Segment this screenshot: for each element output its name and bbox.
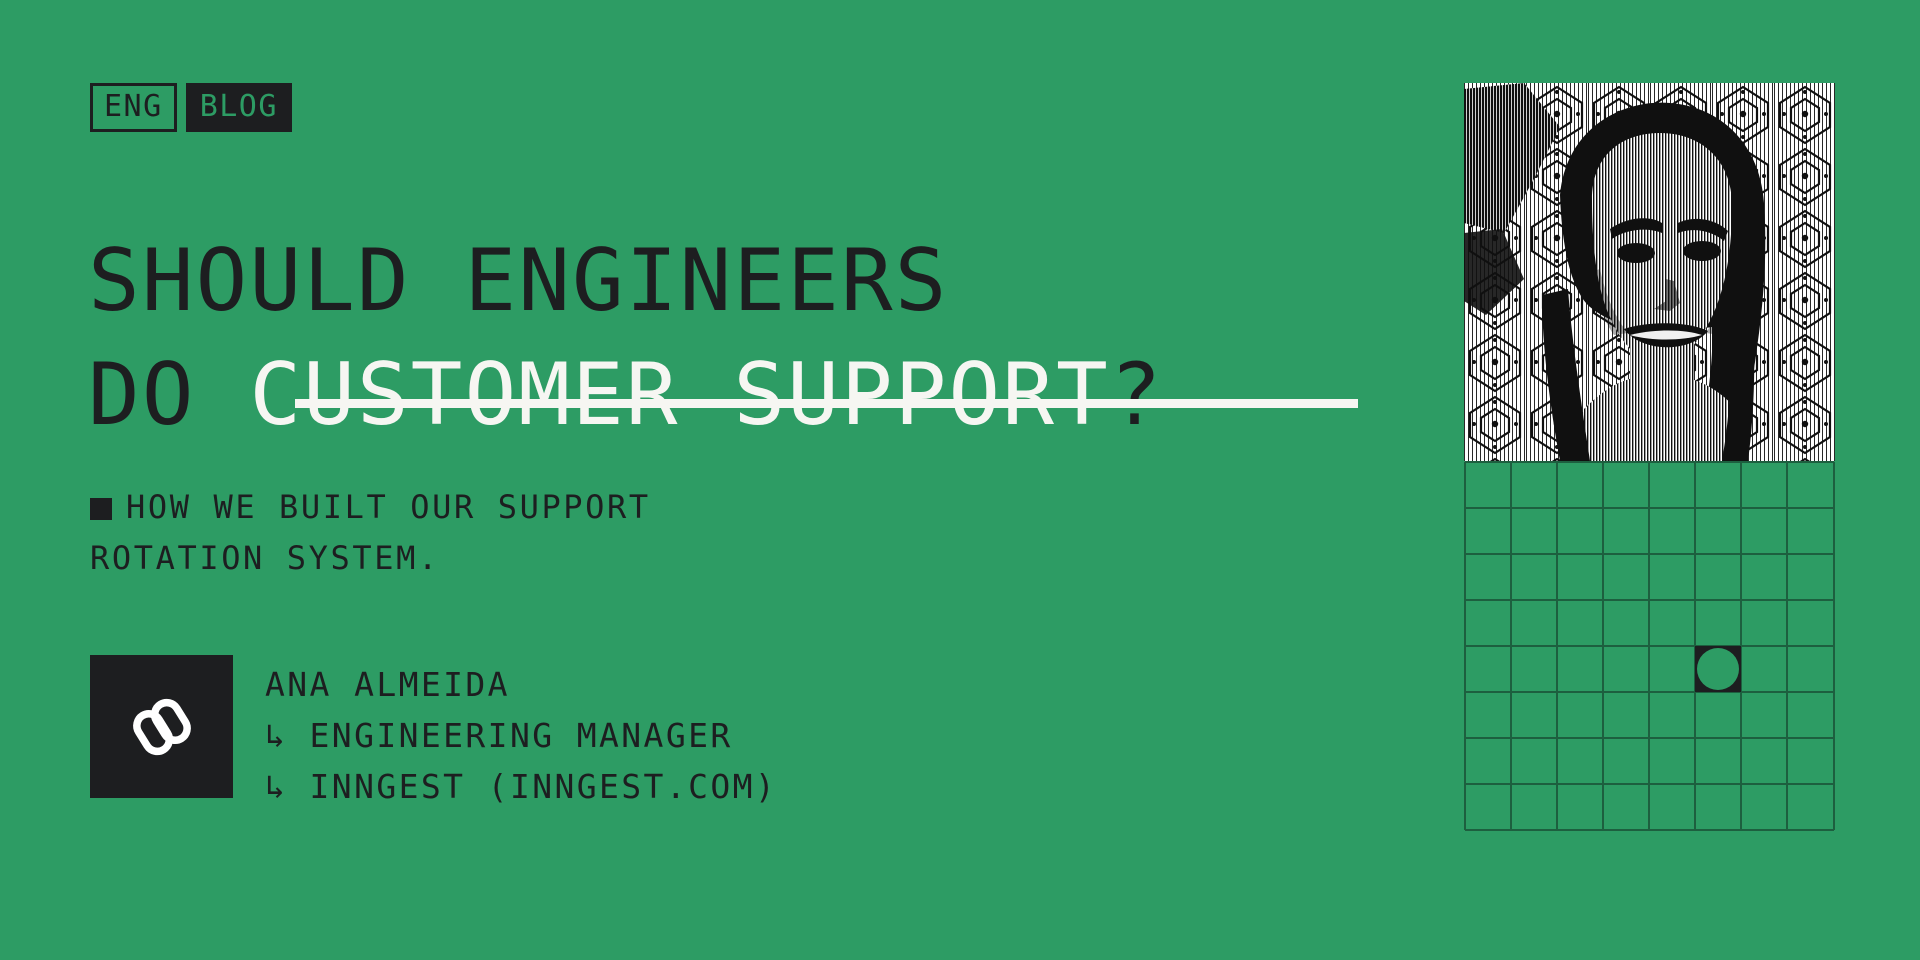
title-line-2-suffix: ? [1110,345,1164,445]
author-block: ANA ALMEIDA ↳ ENGINEERING MANAGER ↳ INNG… [90,655,777,812]
blog-hero-card: ENG BLOG SHOULD ENGINEERS DO CUSTOMER SU… [0,0,1920,960]
author-name: ANA ALMEIDA [265,665,510,704]
badge-row: ENG BLOG [90,83,292,132]
inngest-logo-icon [90,655,233,798]
page-subtitle: HOW WE BUILT OUR SUPPORTROTATION SYSTEM. [90,482,790,584]
badge-kind-blog[interactable]: BLOG [186,83,292,132]
title-line-2-highlight: CUSTOMER SUPPORT [249,345,1109,445]
page-title: SHOULD ENGINEERS DO CUSTOMER SUPPORT? [88,224,1164,452]
decorative-grid [1464,461,1835,831]
title-line-2-prefix: DO [88,345,249,445]
author-role: ↳ ENGINEERING MANAGER [265,716,733,755]
author-meta: ANA ALMEIDA ↳ ENGINEERING MANAGER ↳ INNG… [265,655,777,812]
grid-marker-cell [1695,646,1741,692]
title-underline-rule [295,399,1358,408]
subtitle-line-1: HOW WE BUILT OUR SUPPORT [126,488,651,526]
author-company[interactable]: ↳ INNGEST (INNGEST.COM) [265,767,777,806]
title-line-1: SHOULD ENGINEERS [88,231,948,331]
square-bullet-icon [90,498,112,520]
badge-category-eng[interactable]: ENG [90,83,177,132]
subtitle-line-2: ROTATION SYSTEM. [90,539,440,577]
author-portrait-photo [1464,83,1835,461]
